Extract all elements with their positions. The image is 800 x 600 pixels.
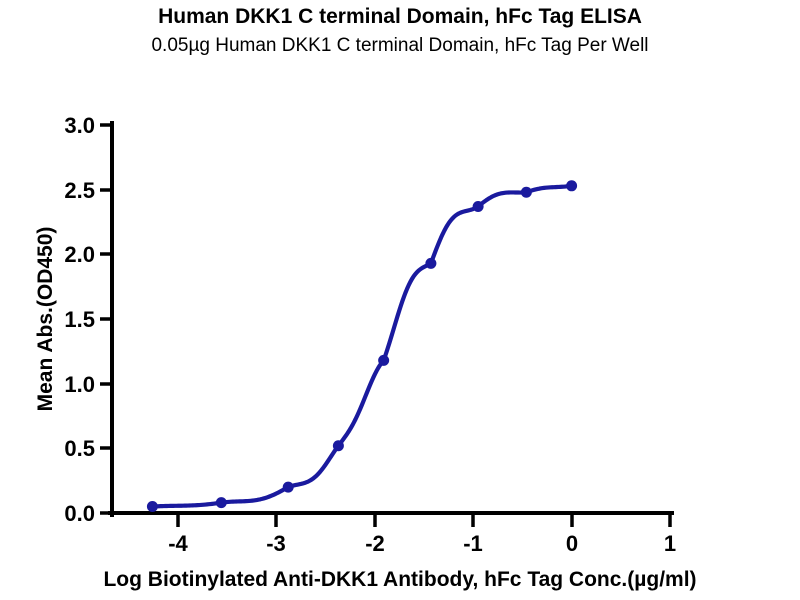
x-tick-label-5: 1 [664,531,676,556]
chart-figure: Human DKK1 C terminal Domain, hFc Tag EL… [0,0,800,600]
x-axis-title: Log Biotinylated Anti-DKK1 Antibody, hFc… [0,568,800,592]
data-point [147,501,158,512]
y-tick-label-4: 2.0 [64,242,95,267]
x-tick-label-1: -3 [266,531,286,556]
x-tick-label-3: -1 [463,531,483,556]
data-point [378,355,389,366]
data-point [283,482,294,493]
x-tick-label-4: 0 [566,531,578,556]
data-markers [147,180,577,512]
y-tick-label-6: 3.0 [64,113,95,138]
data-point [216,497,227,508]
x-tick-label-2: -2 [365,531,385,556]
data-point [425,258,436,269]
data-point [566,180,577,191]
y-tick-label-0: 0.0 [64,501,95,526]
y-axis-tick-labels: 0.0 0.5 1.0 1.5 2.0 2.5 3.0 [64,113,95,526]
x-axis-ticks [178,513,670,527]
x-tick-label-0: -4 [168,531,188,556]
data-point [521,187,532,198]
x-axis-tick-labels: -4 -3 -2 -1 0 1 [168,531,676,556]
data-curve [152,186,571,507]
y-tick-label-2: 1.0 [64,372,95,397]
plot-area: 0.0 0.5 1.0 1.5 2.0 2.5 3.0 -4 -3 -2 -1 … [0,0,800,600]
y-tick-label-5: 2.5 [64,178,95,203]
data-point [473,201,484,212]
y-tick-label-1: 0.5 [64,436,95,461]
y-axis-title: Mean Abs.(OD450) [34,227,57,412]
y-tick-label-3: 1.5 [64,307,95,332]
data-point [333,440,344,451]
data-series-group [147,180,577,512]
